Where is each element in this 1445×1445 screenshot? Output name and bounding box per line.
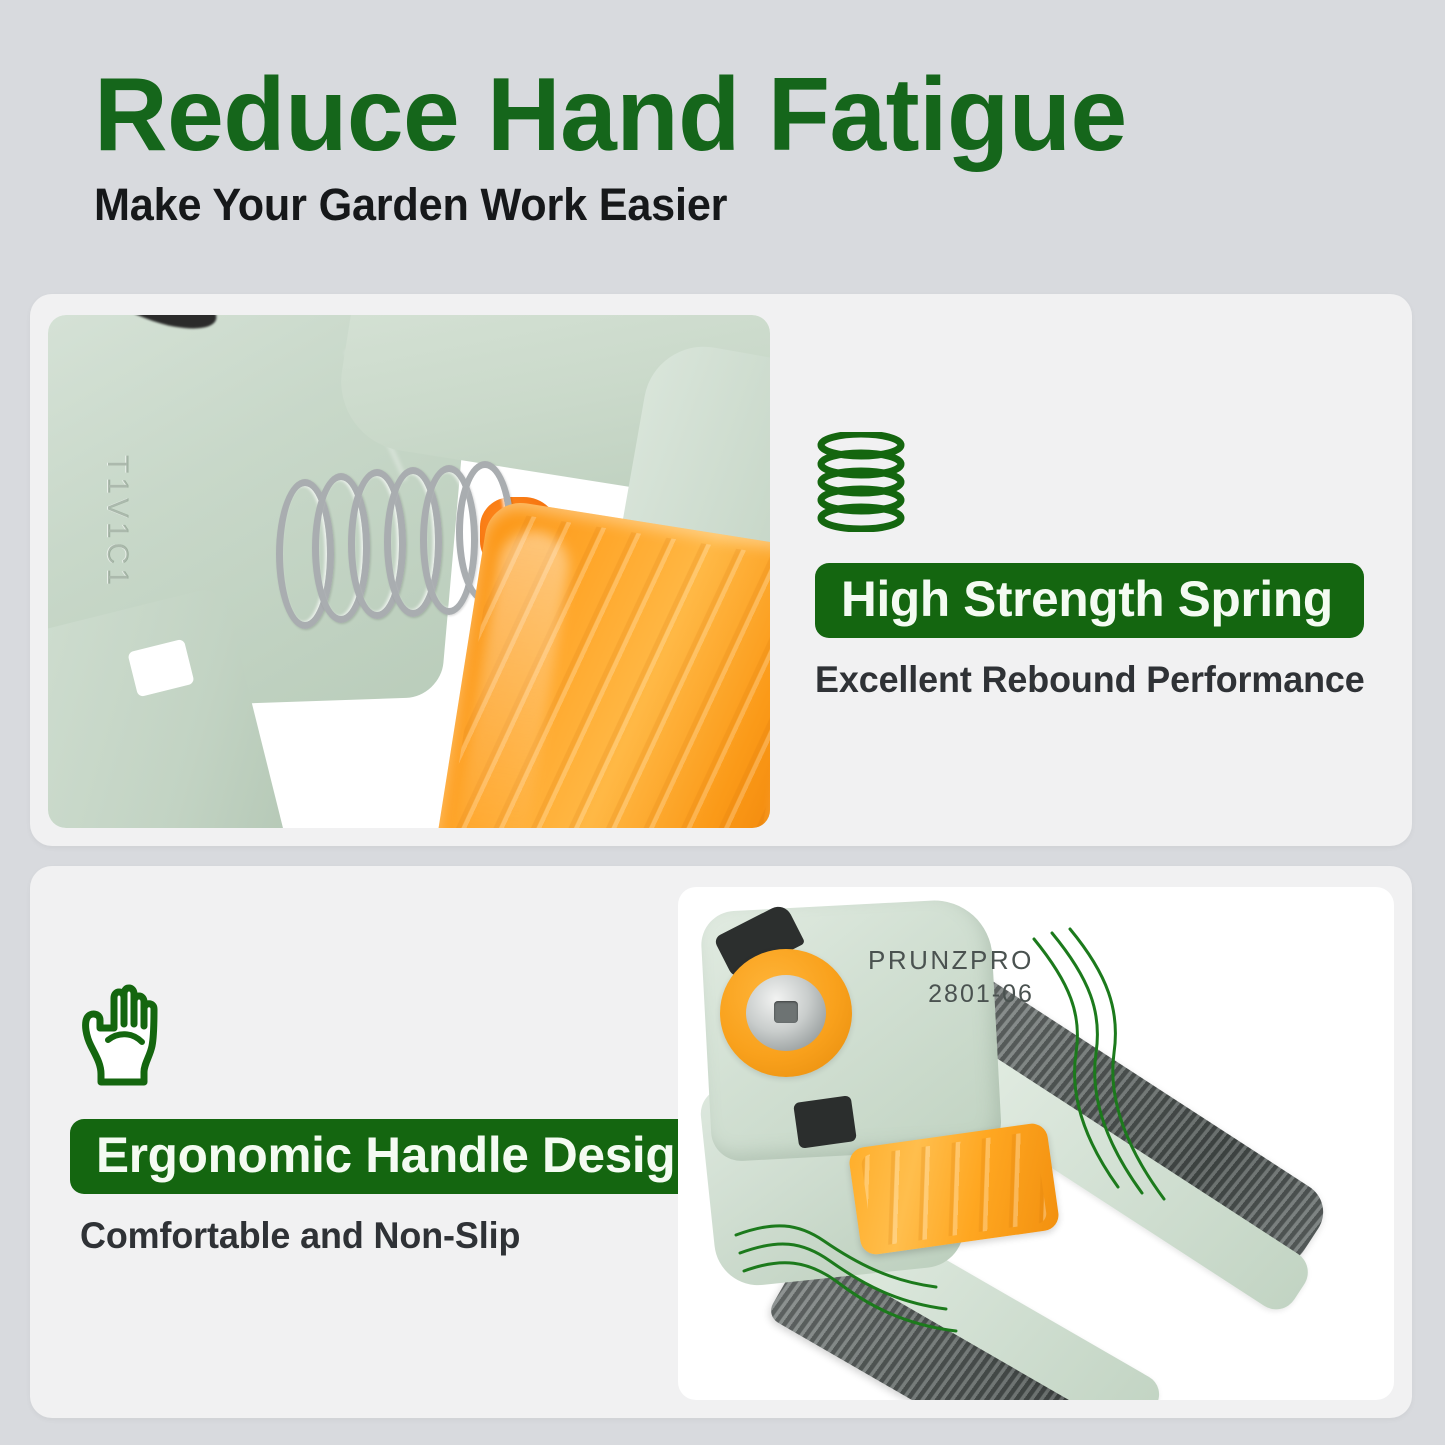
model-number-text: 2801-06: [868, 980, 1034, 1009]
pruner-handle-photo: PRUNZPRO 2801-06: [678, 887, 1394, 1400]
page-title: Reduce Hand Fatigue: [94, 62, 1329, 168]
spring-closeup-photo: T1V1C1: [48, 315, 770, 828]
caption-spring: Excellent Rebound Performance: [815, 660, 1365, 701]
pivot-bolt-ring: [720, 949, 852, 1077]
panel-spring: T1V1C1: [30, 294, 1412, 846]
brand-name-text: PRUNZPRO: [868, 945, 1034, 976]
page-subtitle: Make Your Garden Work Easier: [94, 180, 1304, 230]
caption-handle: Comfortable and Non-Slip: [80, 1216, 718, 1257]
dark-blade-sliver: [98, 315, 225, 339]
status-badge-handle: Ergonomic Handle Design: [70, 1119, 737, 1194]
hex-socket: [774, 1001, 798, 1023]
spring-coil-icon: [815, 432, 1382, 537]
badge-label-spring: High Strength Spring: [841, 574, 1333, 624]
feature-handle: Ergonomic Handle Design Comfortable and …: [70, 976, 737, 1257]
header: Reduce Hand Fatigue Make Your Garden Wor…: [94, 62, 1354, 230]
badge-label-handle: Ergonomic Handle Design: [96, 1130, 705, 1180]
brand-marking: PRUNZPRO 2801-06: [868, 945, 1034, 1009]
embossed-code-text: T1V1C1: [100, 455, 134, 589]
feature-spring: High Strength Spring Excellent Rebound P…: [815, 432, 1382, 701]
infographic-page: Reduce Hand Fatigue Make Your Garden Wor…: [0, 0, 1445, 1445]
pivot-bolt: [746, 975, 826, 1051]
open-hand-icon: [70, 976, 737, 1093]
inner-mechanism: [793, 1095, 857, 1149]
status-badge-spring: High Strength Spring: [815, 563, 1364, 638]
panel-handle: Ergonomic Handle Design Comfortable and …: [30, 866, 1412, 1418]
